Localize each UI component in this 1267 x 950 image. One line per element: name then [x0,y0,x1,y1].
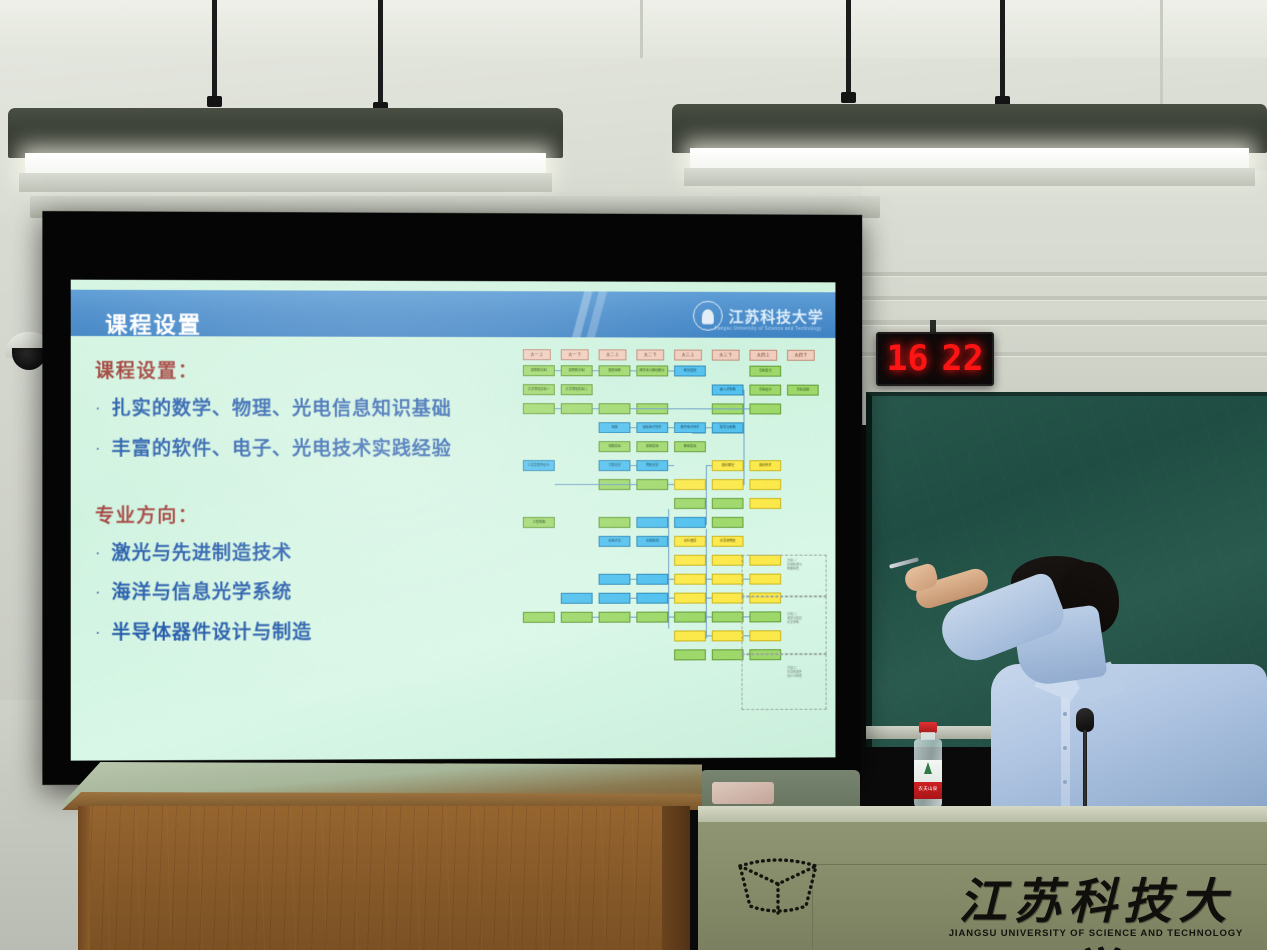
ceiling-light-fixture [8,108,563,194]
bullet-text: 丰富的软件、电子、光电技术实践经验 [112,438,452,461]
flowchart-node [674,649,706,660]
flowchart-node [749,479,781,490]
flowchart-node: 物理光学 [636,460,668,471]
slide-title-bar: 江苏科技大学 Jiangsu University of Science and… [71,290,836,338]
presenter-shirt [991,664,1267,812]
slide-title: 课程设置 [105,301,202,345]
flowchart-node: 半导体物理 [712,536,744,547]
flowchart-node: 光电子学 [599,536,631,547]
flowchart-node: 激光技术 [749,460,781,471]
flowchart-node: 信号与系统 [712,422,744,433]
light-hanger-rod [1000,0,1005,100]
light-shade [8,108,563,158]
flowchart-node [636,612,668,623]
flowchart-direction-note: 方向二： 海洋与信息 光学系统 [787,612,827,624]
flowchart-connector [668,427,674,428]
flowchart-semester-header: 大二下 [636,349,664,360]
lecture-hall-scene: 16 22 江苏科技大学 Jiangsu University of Scien… [0,0,1267,950]
flowchart-group-box [742,654,827,710]
flowchart-direction-note: 方向三： 半导体器件 设计与制造 [787,666,827,678]
flowchart-node [712,630,744,641]
flowchart-node [712,479,744,490]
flowchart-connector [593,617,599,618]
light-hanger-rod [846,0,851,96]
ceiling-seam [640,0,643,58]
presentation-slide: 江苏科技大学 Jiangsu University of Science and… [71,280,836,761]
flowchart-node [749,403,781,414]
flowchart-node [636,517,668,528]
flowchart-node: 高等数学A2 [561,365,593,376]
flowchart-node [674,593,706,604]
flowchart-connector [706,465,707,525]
flowchart-node [674,574,706,585]
flowchart-node: 毕业实习 [749,366,781,377]
flowchart-connector [630,465,636,466]
flowchart-node [712,498,744,509]
flowchart-connector [630,370,636,371]
curriculum-flowchart: 大一上大一下大二上大二下大三上大三下大四上大四下高等数学A1高等数学A2复变函数… [521,349,829,749]
flowchart-semester-header: 大二上 [599,349,627,360]
flowchart-connector [668,370,674,371]
wall-rail [862,272,1267,276]
university-name-en: Jiangsu University of Science and Techno… [714,326,822,331]
ceiling-band [0,0,1267,58]
flowchart-node [674,612,706,623]
shirt-button [1063,780,1067,784]
bullet-text: 激光与先进制造技术 [112,543,293,566]
flowchart-node: C语言程序设计 [523,460,555,471]
front-podium-desk: 江苏科技大学 JIANGSU UNIVERSITY OF SCIENCE AND… [698,806,1267,950]
flowchart-semester-header: 大一上 [523,349,551,360]
flowchart-node: 光电检测 [636,536,668,547]
flowchart-node: 激光原理 [712,460,744,471]
ceiling-seam [1160,0,1163,120]
flowchart-connector [630,598,636,599]
bullet-marker-icon: · [95,543,100,564]
flowchart-node [599,612,631,623]
podium-university-name-en: JIANGSU UNIVERSITY OF SCIENCE AND TECHNO… [926,928,1266,939]
clock-hours: 16 [886,342,928,377]
flowchart-node [712,611,744,622]
flowchart-node: 毕业答辩 [787,385,819,396]
microphone-stem [1083,730,1087,808]
flowchart-node [674,517,706,528]
lectern-side [662,806,690,950]
flowchart-node [712,649,744,660]
flowchart-node [636,574,668,585]
university-name-zh: 江苏科技大学 [729,305,824,326]
flowchart-node [674,498,706,509]
bullet-text: 海洋与信息光学系统 [112,583,293,606]
spacer [95,478,517,500]
flowchart-connector [630,579,636,580]
flowchart-node: 模拟电子技术 [636,422,668,433]
light-clip [207,96,222,107]
flowchart-node: 数学建模 [674,365,706,376]
clock-minutes-digits: 22 [942,342,984,377]
flowchart-node: 概率论与数理统计 [636,365,668,376]
projection-screen: 江苏科技大学 Jiangsu University of Science and… [42,211,862,785]
flowchart-semester-header: 大四上 [749,350,777,361]
flowchart-node: 工程制图 [523,517,555,528]
flowchart-direction-note: 方向一： 光电检测与 智能制造 [787,559,827,571]
shirt-button [1063,746,1067,750]
desk-microphone[interactable] [1073,708,1097,808]
flowchart-node: 光纤通信 [674,536,706,547]
flowchart-semester-header: 大四下 [787,350,815,361]
flowchart-node [561,403,593,414]
flowchart-node [674,630,706,641]
flowchart-node: 大学物理实验二 [561,384,593,395]
ceiling-light-fixture [672,104,1267,188]
flowchart-node: 模电实验 [636,441,668,452]
flowchart-node [599,403,631,414]
flowchart-node: 毕业设计 [749,385,781,396]
clock-hours-digits: 16 [886,342,928,377]
flowchart-node: 大学物理实验一 [523,384,555,395]
wall-rail [862,320,1267,325]
flowchart-connector [668,484,674,485]
papers-on-desk [712,782,774,804]
flowchart-node [599,517,631,528]
flowchart-node: 数字电子技术 [674,422,706,433]
presenter-arm [889,562,1049,666]
clock-minutes: 22 [942,342,984,377]
shirt-placket [1061,688,1070,812]
flowchart-semester-header: 大一下 [561,349,589,360]
lectern-post [78,806,90,950]
flowchart-connector [706,529,707,639]
flowchart-node [599,574,631,585]
flowchart-grid: 大一上大一下大二上大二下大三上大三下大四上大四下高等数学A1高等数学A2复变函数… [521,349,829,749]
water-bottle[interactable]: 农夫山泉 [913,722,943,808]
flowchart-node [636,479,668,490]
bullet-item: · 扎实的数学、物理、光电信息知识基础 [95,398,517,421]
camera-lens [12,348,46,370]
chevron-decoration-icon [534,291,626,337]
flowchart-node: 工程光学 [599,460,631,471]
flowchart-node [674,555,706,566]
bullet-marker-icon: · [95,623,100,644]
flowchart-node: 嵌入式系统 [712,384,744,395]
podium-emblem-icon [724,850,832,916]
lectern-front-panel [78,806,690,950]
flowchart-group-box [742,596,827,654]
bullet-marker-icon: · [95,583,100,604]
flowchart-node [523,612,555,623]
microphone-head [1076,708,1094,732]
light-clip [841,92,856,103]
digital-clock: 16 22 [876,332,994,386]
flowchart-connector [630,427,636,428]
flowchart-semester-header: 大三下 [712,350,740,361]
flowchart-node [561,593,593,604]
fixture-underside [684,168,1255,186]
bullet-marker-icon: · [95,398,100,419]
flowchart-connector [668,465,674,466]
light-shade [672,104,1267,153]
flowchart-connector [555,370,561,371]
flowchart-node [712,555,744,566]
light-hanger-rod [378,0,383,106]
flowchart-node [712,574,744,585]
flowchart-semester-header: 大三上 [674,350,702,361]
flowchart-connector [744,390,745,486]
bottle-brand-text: 农夫山泉 [914,786,942,792]
section1-heading: 课程设置： [95,356,517,384]
flowchart-node [712,517,744,528]
flowchart-connector [593,408,599,409]
bullet-text: 半导体器件设计与制造 [112,622,313,645]
flowchart-node [636,593,668,604]
bullet-item: · 激光与先进制造技术 [95,543,517,566]
flowchart-node: 电路实验 [599,441,631,452]
flowchart-node: 复变函数 [599,365,631,376]
flowchart-node [599,593,631,604]
section2-heading: 专业方向： [95,501,517,528]
bullet-text: 扎实的数学、物理、光电信息知识基础 [112,398,452,421]
flowchart-connector [668,509,669,629]
flowchart-node [561,612,593,623]
flowchart-node: 数电实验 [674,441,706,452]
bullet-item: · 丰富的软件、电子、光电技术实践经验 [95,438,517,461]
shirt-button [1063,712,1067,716]
flowchart-connector [630,484,636,485]
flowchart-node [674,479,706,490]
flowchart-connector [555,484,631,485]
slide-body-text: 课程设置： · 扎实的数学、物理、光电信息知识基础 · 丰富的软件、电子、光电技… [95,356,517,663]
flowchart-node [749,498,781,509]
flowchart-connector [630,408,749,409]
wall-rail [862,296,1267,300]
bullet-item: · 半导体器件设计与制造 [95,622,517,646]
wooden-lectern [62,762,702,950]
bullet-item: · 海洋与信息光学系统 [95,582,517,606]
flowchart-node [712,593,744,604]
flowchart-connector [593,370,599,371]
flowchart-node: 电路 [599,422,631,433]
bullet-marker-icon: · [95,438,100,459]
flowchart-node: 高等数学A1 [523,365,555,376]
flowchart-connector [630,617,636,618]
fixture-underside [19,173,552,192]
light-hanger-rod [212,0,217,100]
flowchart-connector [555,408,561,409]
flowchart-node [523,403,555,414]
wood-grain [78,806,690,950]
flowchart-connector [706,427,712,428]
